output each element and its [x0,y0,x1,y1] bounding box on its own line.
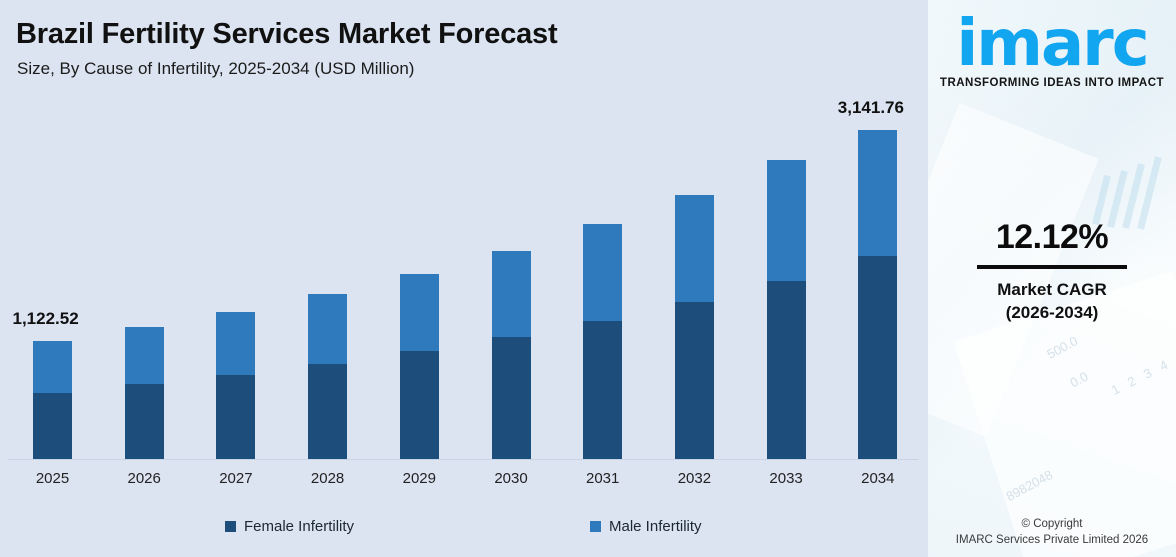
bar-segment-female-2028[interactable] [308,364,347,459]
copyright-line-1: © Copyright [928,516,1176,533]
bar-2030[interactable] [492,251,531,459]
bar-2034[interactable] [858,130,897,459]
legend-swatch-female [225,521,236,532]
bar-2028[interactable] [308,294,347,459]
copyright-line-2: IMARC Services Private Limited 2026 [928,532,1176,549]
bar-2031[interactable] [583,224,622,459]
cagr-label-line1: Market CAGR [928,279,1176,302]
bar-2032[interactable] [675,195,714,459]
imarc-tagline: TRANSFORMING IDEAS INTO IMPACT [928,77,1176,89]
cagr-label-line2: (2026-2034) [928,302,1176,325]
bar-segment-female-2032[interactable] [675,302,714,459]
bar-2027[interactable] [216,312,255,459]
chart-screenshot: Brazil Fertility Services Market Forecas… [0,0,1176,557]
chart-legend: Female Infertility Male Infertility [0,518,928,544]
bar-segment-female-2033[interactable] [767,281,806,459]
bar-2033[interactable] [767,160,806,459]
bar-segment-male-2032[interactable] [675,195,714,302]
x-axis-line [8,459,918,460]
imarc-logo: imarc TRANSFORMING IDEAS INTO IMPACT [928,14,1176,89]
bar-segment-male-2030[interactable] [492,251,531,337]
bar-label-2034: 3,141.76 [838,98,904,118]
legend-item-male[interactable]: Male Infertility [590,518,702,535]
bar-segment-male-2026[interactable] [125,327,164,384]
bar-segment-female-2030[interactable] [492,337,531,459]
imarc-logo-text: imarc [928,14,1176,75]
bar-segment-male-2034[interactable] [858,130,897,256]
bar-segment-male-2028[interactable] [308,294,347,364]
legend-swatch-male [590,521,601,532]
cagr-value: 12.12% [928,218,1176,257]
plot-area: 2025202620272028202920302031203220332034… [0,0,928,557]
chart-panel: Brazil Fertility Services Market Forecas… [0,0,928,557]
bar-segment-female-2027[interactable] [216,375,255,460]
copyright-notice: © Copyright IMARC Services Private Limit… [928,516,1176,549]
bar-segment-male-2027[interactable] [216,312,255,375]
bar-segment-male-2031[interactable] [583,224,622,320]
bar-label-2025: 1,122.52 [13,309,79,329]
brand-panel: 500.0 0.0 1 2 3 4 8982048 imarc TRANSFOR… [928,0,1176,557]
bar-2025[interactable] [33,341,72,459]
bar-2026[interactable] [125,327,164,459]
legend-item-female[interactable]: Female Infertility [225,518,354,535]
bar-segment-male-2025[interactable] [33,341,72,392]
legend-label-male: Male Infertility [609,518,702,535]
cagr-divider [977,265,1127,269]
bar-segment-male-2033[interactable] [767,160,806,280]
bar-segment-female-2025[interactable] [33,393,72,459]
bar-segment-female-2034[interactable] [858,256,897,459]
bar-2029[interactable] [400,274,439,459]
bar-segment-female-2031[interactable] [583,321,622,459]
cagr-block: 12.12% Market CAGR (2026-2034) [928,218,1176,325]
bar-segment-female-2026[interactable] [125,384,164,459]
legend-label-female: Female Infertility [244,518,354,535]
bar-segment-female-2029[interactable] [400,351,439,459]
x-tick-2034: 2034 [823,470,933,487]
bar-segment-male-2029[interactable] [400,274,439,352]
